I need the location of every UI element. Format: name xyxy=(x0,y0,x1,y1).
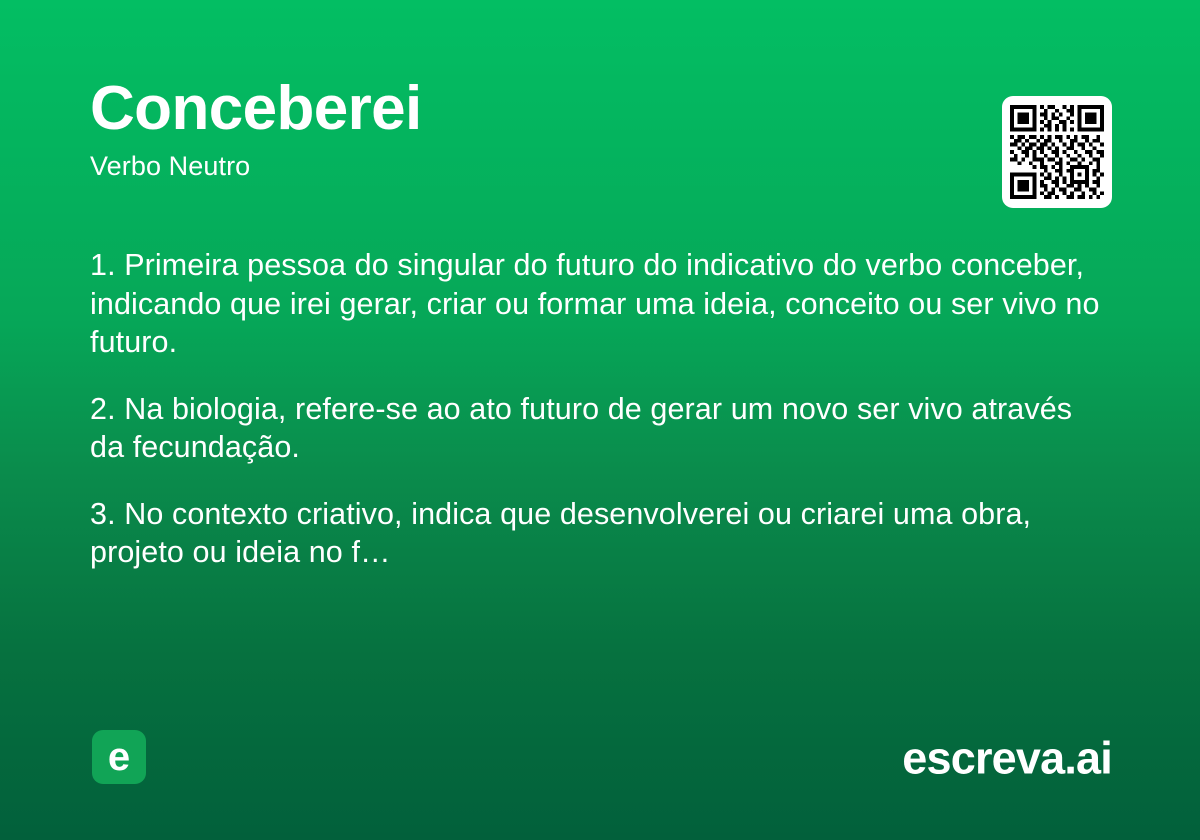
card-footer: e escreva.ai xyxy=(90,730,1112,786)
definition-item: 3. No contexto criativo, indica que dese… xyxy=(90,495,1112,572)
qr-code-panel[interactable] xyxy=(1002,96,1112,208)
card-header: Conceberei Verbo Neutro xyxy=(90,78,1110,218)
definition-item: 2. Na biologia, refere-se ao ato futuro … xyxy=(90,390,1112,467)
definition-card: Conceberei Verbo Neutro xyxy=(0,0,1200,840)
word-class-subtitle: Verbo Neutro xyxy=(90,152,1110,180)
brand-wordmark: escreva.ai xyxy=(902,736,1112,781)
logo-letter: e xyxy=(92,737,146,777)
escreva-logo-badge: e xyxy=(92,730,146,784)
definition-item: 1. Primeira pessoa do singular do futuro… xyxy=(90,246,1112,362)
page-title: Conceberei xyxy=(90,78,1110,140)
definition-list: 1. Primeira pessoa do singular do futuro… xyxy=(90,246,1112,572)
qr-code-icon xyxy=(1010,104,1104,200)
